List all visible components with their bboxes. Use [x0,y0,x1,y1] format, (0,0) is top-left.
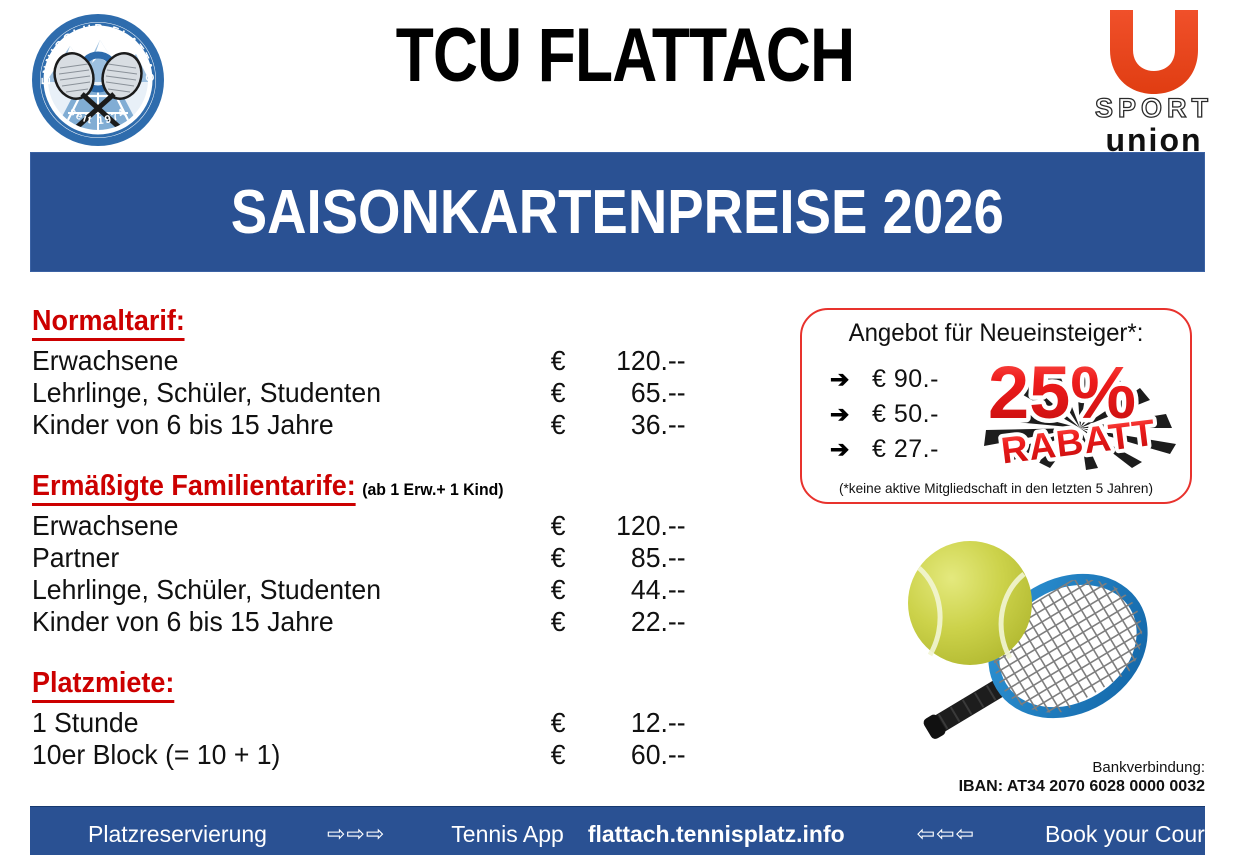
poster-page: TENNISCLUB FLATTACH seit 1974 TCU FLATTA… [0,0,1250,855]
list-item: ➔ € 90.- [830,362,939,397]
table-row: Erwachsene € 120.-- [32,345,659,377]
tennis-ball-icon [908,541,1032,665]
tariff-rows: Erwachsene € 120.-- Lehrlinge, Schüler, … [32,345,692,441]
tariff-amount: 120.-- [587,510,686,542]
tariff-label: Kinder von 6 bis 15 Jahre [32,409,551,441]
bank-label: Bankverbindung: [860,758,1205,777]
arrow-right-icon: ➔ [830,368,872,391]
tariff-section-normal: Normaltarif: Erwachsene € 120.-- Lehrlin… [32,305,692,441]
list-item: ➔ € 50.- [830,397,939,432]
tariff-heading-note: (ab 1 Erw.+ 1 Kind) [362,480,503,499]
tariff-section-heading: Platzmiete: [32,667,646,700]
tariff-label: Lehrlinge, Schüler, Studenten [32,377,551,409]
tariff-label: 1 Stunde [32,707,551,739]
tariff-label: Erwachsene [32,510,551,542]
sportunion-u-icon [1106,6,1202,94]
discount-starburst-badge-icon: 25% 25% RABATT RABATT [980,350,1180,470]
offer-title: Angebot für Neueinsteiger*: [810,319,1182,348]
table-row: Lehrlinge, Schüler, Studenten € 65.-- [32,377,659,409]
tariff-currency: € [551,574,587,606]
tariff-label: Partner [32,542,551,574]
tariff-amount: 65.-- [587,377,686,409]
tariff-rows: 1 Stunde € 12.-- 10er Block (= 10 + 1) €… [32,707,692,771]
tariff-label: Kinder von 6 bis 15 Jahre [32,606,551,638]
sportunion-logo: SPORT union [1092,6,1216,141]
page-title: TCU FLATTACH [113,18,1138,94]
tariff-amount: 120.-- [587,345,686,377]
table-row: Kinder von 6 bis 15 Jahre € 36.-- [32,409,659,441]
offer-price: € 50.- [872,400,939,429]
tariff-currency: € [551,345,587,377]
offer-price-list: ➔ € 90.- ➔ € 50.- ➔ € 27.- [830,362,939,467]
newcomer-offer-box: Angebot für Neueinsteiger*: ➔ € 90.- ➔ €… [800,308,1192,504]
tariff-currency: € [551,377,587,409]
offer-footnote: (*keine aktive Mitgliedschaft in den let… [808,480,1184,496]
table-row: Lehrlinge, Schüler, Studenten € 44.-- [32,574,659,606]
arrows-right-icon: ⇨⇨⇨ [327,821,385,847]
tariff-currency: € [551,409,587,441]
section-spacer [32,638,692,667]
sportunion-line1: SPORT [1092,95,1216,122]
table-row: Erwachsene € 120.-- [32,510,659,542]
table-row: Kinder von 6 bis 15 Jahre € 22.-- [32,606,659,638]
footer-reservation-label: Platzreservierung [88,821,267,848]
season-price-banner: SAISONKARTENPREISE 2026 [30,152,1205,272]
tariff-rows: Erwachsene € 120.-- Partner € 85.-- Lehr… [32,510,692,638]
tariff-section-court-rental: Platzmiete: 1 Stunde € 12.-- 10er Block … [32,667,692,771]
offer-price: € 90.- [872,365,939,394]
tariff-list: Normaltarif: Erwachsene € 120.-- Lehrlin… [32,305,692,771]
footer-app-label: Tennis App [451,821,564,848]
tariff-amount: 36.-- [587,409,686,441]
tariff-heading-text: Platzmiete: [32,667,174,703]
tariff-currency: € [551,606,587,638]
tariff-section-heading: Ermäßigte Familientarife:(ab 1 Erw.+ 1 K… [32,470,646,503]
list-item: ➔ € 27.- [830,432,939,467]
tariff-currency: € [551,510,587,542]
footer-content: Platzreservierung ⇨⇨⇨ Tennis App flattac… [30,813,1205,855]
poster-footer: Platzreservierung ⇨⇨⇨ Tennis App flattac… [30,806,1205,855]
tariff-amount: 85.-- [587,542,686,574]
tariff-heading-text: Normaltarif: [32,305,185,341]
footer-book-label: Book your Court [1045,821,1211,848]
tariff-section-family: Ermäßigte Familientarife:(ab 1 Erw.+ 1 K… [32,470,692,638]
tariff-label: Lehrlinge, Schüler, Studenten [32,574,551,606]
tariff-label: 10er Block (= 10 + 1) [32,739,551,771]
tariff-currency: € [551,739,587,771]
tariff-amount: 44.-- [587,574,686,606]
offer-price: € 27.- [872,435,939,464]
tariff-currency: € [551,542,587,574]
table-row: 10er Block (= 10 + 1) € 60.-- [32,739,659,771]
bank-iban: IBAN: AT34 2070 6028 0000 0032 [860,777,1205,796]
bank-details: Bankverbindung: IBAN: AT34 2070 6028 000… [860,758,1205,796]
tariff-amount: 12.-- [587,707,686,739]
table-row: Partner € 85.-- [32,542,659,574]
section-spacer [32,441,692,470]
tennis-racket-and-ball-icon [818,518,1188,768]
arrows-left-icon: ⇦⇦⇦ [917,821,975,847]
tariff-amount: 60.-- [587,739,686,771]
footer-booking-url[interactable]: flattach.tennisplatz.info [588,821,845,848]
tariff-heading-text: Ermäßigte Familientarife: [32,470,356,506]
tariff-currency: € [551,707,587,739]
arrow-right-icon: ➔ [830,438,872,461]
arrow-right-icon: ➔ [830,403,872,426]
table-row: 1 Stunde € 12.-- [32,707,659,739]
poster-header: TENNISCLUB FLATTACH seit 1974 TCU FLATTA… [0,0,1250,150]
tariff-amount: 22.-- [587,606,686,638]
tariff-label: Erwachsene [32,345,551,377]
tariff-section-heading: Normaltarif: [32,305,646,338]
banner-title: SAISONKARTENPREISE 2026 [231,177,1004,248]
